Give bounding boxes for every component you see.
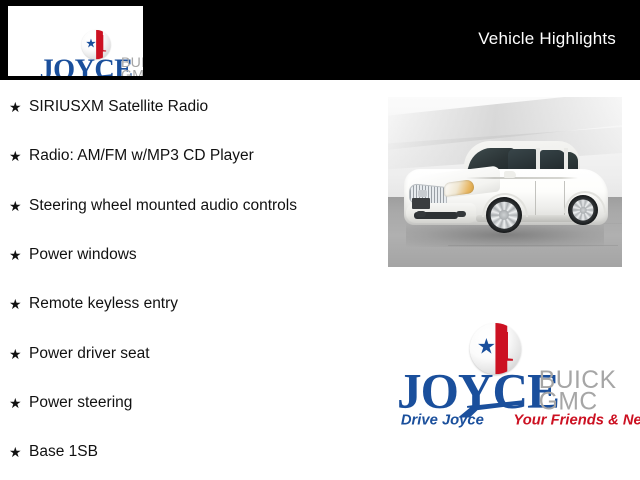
highlight-item-label: Power steering: [29, 392, 132, 414]
car-front-hub: [499, 210, 509, 220]
footer-logo-wordmark: JOYCE: [397, 366, 559, 415]
logo-star-icon: ★: [85, 37, 96, 49]
car-front-wheel: [486, 197, 522, 233]
car-door-seam-front: [535, 181, 536, 215]
car-illustration: [404, 141, 608, 237]
highlight-item-label: Radio: AM/FM w/MP3 CD Player: [29, 145, 254, 167]
car-license-plate-recess: [412, 198, 430, 209]
highlight-item: ★SIRIUSXM Satellite Radio: [9, 96, 208, 118]
vehicle-photo: [388, 97, 622, 267]
logo-wordmark: JOYCE: [40, 55, 133, 76]
footer-logo-tagline: Drive JoyceYour Friends & Neighbors Do!: [401, 412, 620, 430]
highlight-item-label: Power windows: [29, 244, 137, 266]
highlight-item-label: Power driver seat: [29, 343, 150, 365]
bullet-star-icon: ★: [9, 145, 29, 167]
highlight-item: ★Steering wheel mounted audio controls: [9, 195, 297, 217]
car-fog-light-right: [456, 211, 466, 217]
car-rear-hub: [579, 206, 587, 214]
car-grille-badge: [418, 190, 427, 197]
highlight-item: ★Power steering: [9, 392, 132, 414]
header-logo-artwork: 1 ★ JOYCE BUICK GMC Drive JoyceYour Frie…: [37, 30, 113, 76]
bullet-star-icon: ★: [9, 441, 29, 463]
highlight-item-label: Remote keyless entry: [29, 293, 178, 315]
car-beltline: [466, 177, 578, 179]
header-dealer-logo[interactable]: 1 ★ JOYCE BUICK GMC Drive JoyceYour Frie…: [8, 6, 143, 76]
highlight-item: ★Base 1SB: [9, 441, 98, 463]
bullet-star-icon: ★: [9, 244, 29, 266]
bullet-star-icon: ★: [9, 293, 29, 315]
footer-logo-numeral: 1: [493, 325, 515, 368]
highlight-item: ★Power windows: [9, 244, 137, 266]
car-rear-wheel: [568, 195, 598, 225]
highlight-item-label: SIRIUSXM Satellite Radio: [29, 96, 208, 118]
joyce-logo-header: 1 ★ JOYCE BUICK GMC Drive JoyceYour Frie…: [37, 30, 143, 76]
page-title: Vehicle Highlights: [478, 29, 616, 49]
bullet-star-icon: ★: [9, 392, 29, 414]
highlight-item: ★Remote keyless entry: [9, 293, 178, 315]
car-fog-light-left: [416, 211, 426, 217]
highlight-item-label: Steering wheel mounted audio controls: [29, 195, 297, 217]
highlight-item-label: Base 1SB: [29, 441, 98, 463]
logo-make-gmc: GMC: [121, 68, 143, 76]
car-front-rim: [491, 202, 518, 229]
footer-logo-tagline-primary: Drive Joyce: [401, 412, 484, 429]
car-side-mirror: [504, 171, 516, 178]
highlight-item: ★Power driver seat: [9, 343, 150, 365]
joyce-logo-footer: 1 ★ JOYCE BUICK GMC Drive JoyceYour Frie…: [393, 323, 620, 431]
footer-logo-star-icon: ★: [477, 336, 496, 358]
car-rear-rim: [573, 200, 594, 221]
header-bar: 1 ★ JOYCE BUICK GMC Drive JoyceYour Frie…: [0, 0, 640, 80]
footer-logo-tagline-secondary: Your Friends & Neighbors Do!: [513, 412, 640, 429]
footer-dealer-logo[interactable]: 1 ★ JOYCE BUICK GMC Drive JoyceYour Frie…: [393, 323, 620, 431]
bullet-star-icon: ★: [9, 96, 29, 118]
bullet-star-icon: ★: [9, 195, 29, 217]
bullet-star-icon: ★: [9, 343, 29, 365]
highlight-item: ★Radio: AM/FM w/MP3 CD Player: [9, 145, 254, 167]
